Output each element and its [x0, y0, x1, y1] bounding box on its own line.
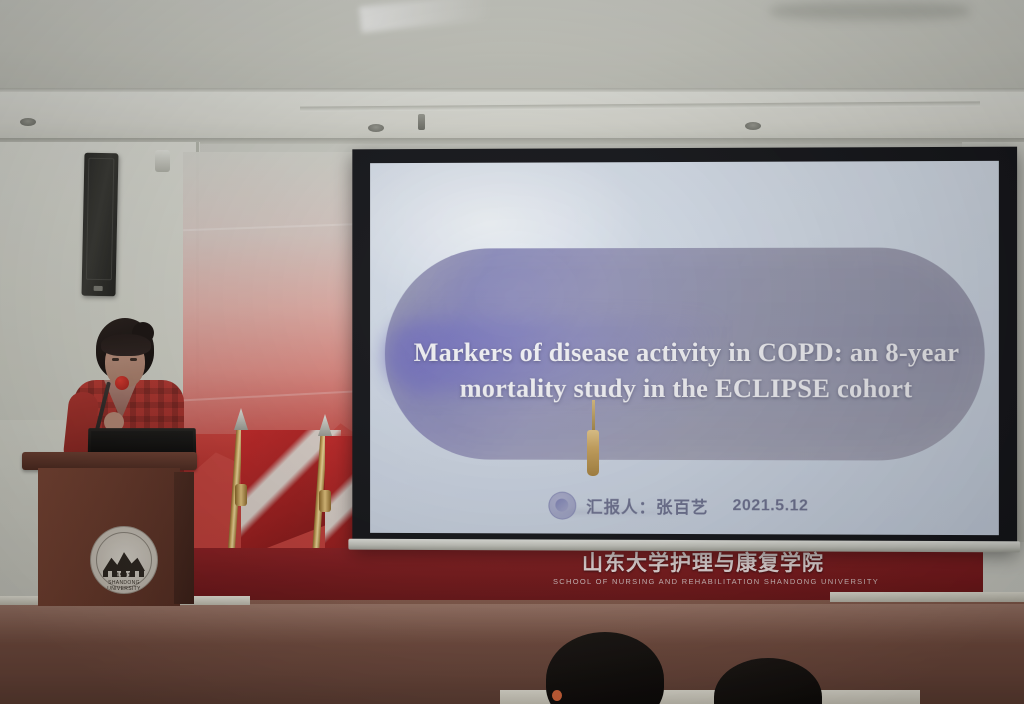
- venue-banner-inner: 山东大学护理与康复学院 SCHOOL OF NURSING AND REHABI…: [553, 550, 853, 586]
- speaker-badge: [94, 286, 103, 291]
- ceiling-vent-icon: [745, 122, 761, 130]
- slide-byline: 汇报人：张百艺 2021.5.12: [548, 492, 808, 521]
- microphone-icon: [115, 376, 129, 390]
- emblem-year: 1901: [91, 573, 157, 579]
- speaker-grille: [86, 158, 115, 281]
- flag-finial-icon: [318, 414, 332, 436]
- screen-pull-cord[interactable]: [592, 400, 595, 434]
- wall-sensor-icon: [155, 150, 170, 172]
- presenter-eye: [130, 358, 137, 361]
- venue-banner-chinese: 山东大学护理与康复学院: [553, 550, 853, 576]
- ceiling-soffit: [0, 92, 1024, 142]
- photo-scene: 山东大学护理与康复学院 SCHOOL OF NURSING AND REHABI…: [0, 0, 1024, 704]
- slide-title-line2: mortality study in the ECLIPSE cohort: [392, 370, 982, 406]
- flag-knob: [319, 490, 331, 512]
- slide-canvas: Markers of disease activity in COPD: an …: [370, 161, 999, 535]
- circle-badge-icon: [548, 492, 576, 520]
- venue-banner-english: SCHOOL OF NURSING AND REHABILITATION SHA…: [553, 577, 853, 586]
- audience-earpiece-icon: [552, 690, 562, 701]
- presenter-bangs: [101, 334, 151, 356]
- slide-title-line1: Markers of disease activity in COPD: an …: [392, 334, 982, 370]
- flag-knob: [235, 484, 247, 506]
- slide-date: 2021.5.12: [733, 497, 809, 515]
- slide-title: Markers of disease activity in COPD: an …: [392, 334, 982, 406]
- emblem-name: SHANDONG UNIVERSITY: [91, 580, 157, 592]
- projection-screen: Markers of disease activity in COPD: an …: [352, 147, 1017, 550]
- wall-speaker-icon: [82, 153, 119, 297]
- university-emblem: 1901 SHANDONG UNIVERSITY: [90, 526, 158, 594]
- ceiling-smudge: [770, 2, 970, 20]
- presenter-eye: [112, 358, 119, 361]
- ceiling-vent-icon: [20, 118, 36, 126]
- floor-reflection: [0, 604, 1024, 644]
- podium-body: 1901 SHANDONG UNIVERSITY: [38, 468, 180, 606]
- ceiling-vent-icon: [368, 124, 384, 132]
- flag-finial-icon: [234, 408, 248, 430]
- podium-side: [174, 472, 194, 604]
- sprinkler-icon: [418, 114, 425, 130]
- baseboard-right: [830, 592, 1024, 602]
- podium: 1901 SHANDONG UNIVERSITY: [22, 452, 197, 604]
- slide-presenter-label: 汇报人：张百艺: [586, 494, 708, 518]
- screen-pull-tassel[interactable]: [587, 430, 599, 476]
